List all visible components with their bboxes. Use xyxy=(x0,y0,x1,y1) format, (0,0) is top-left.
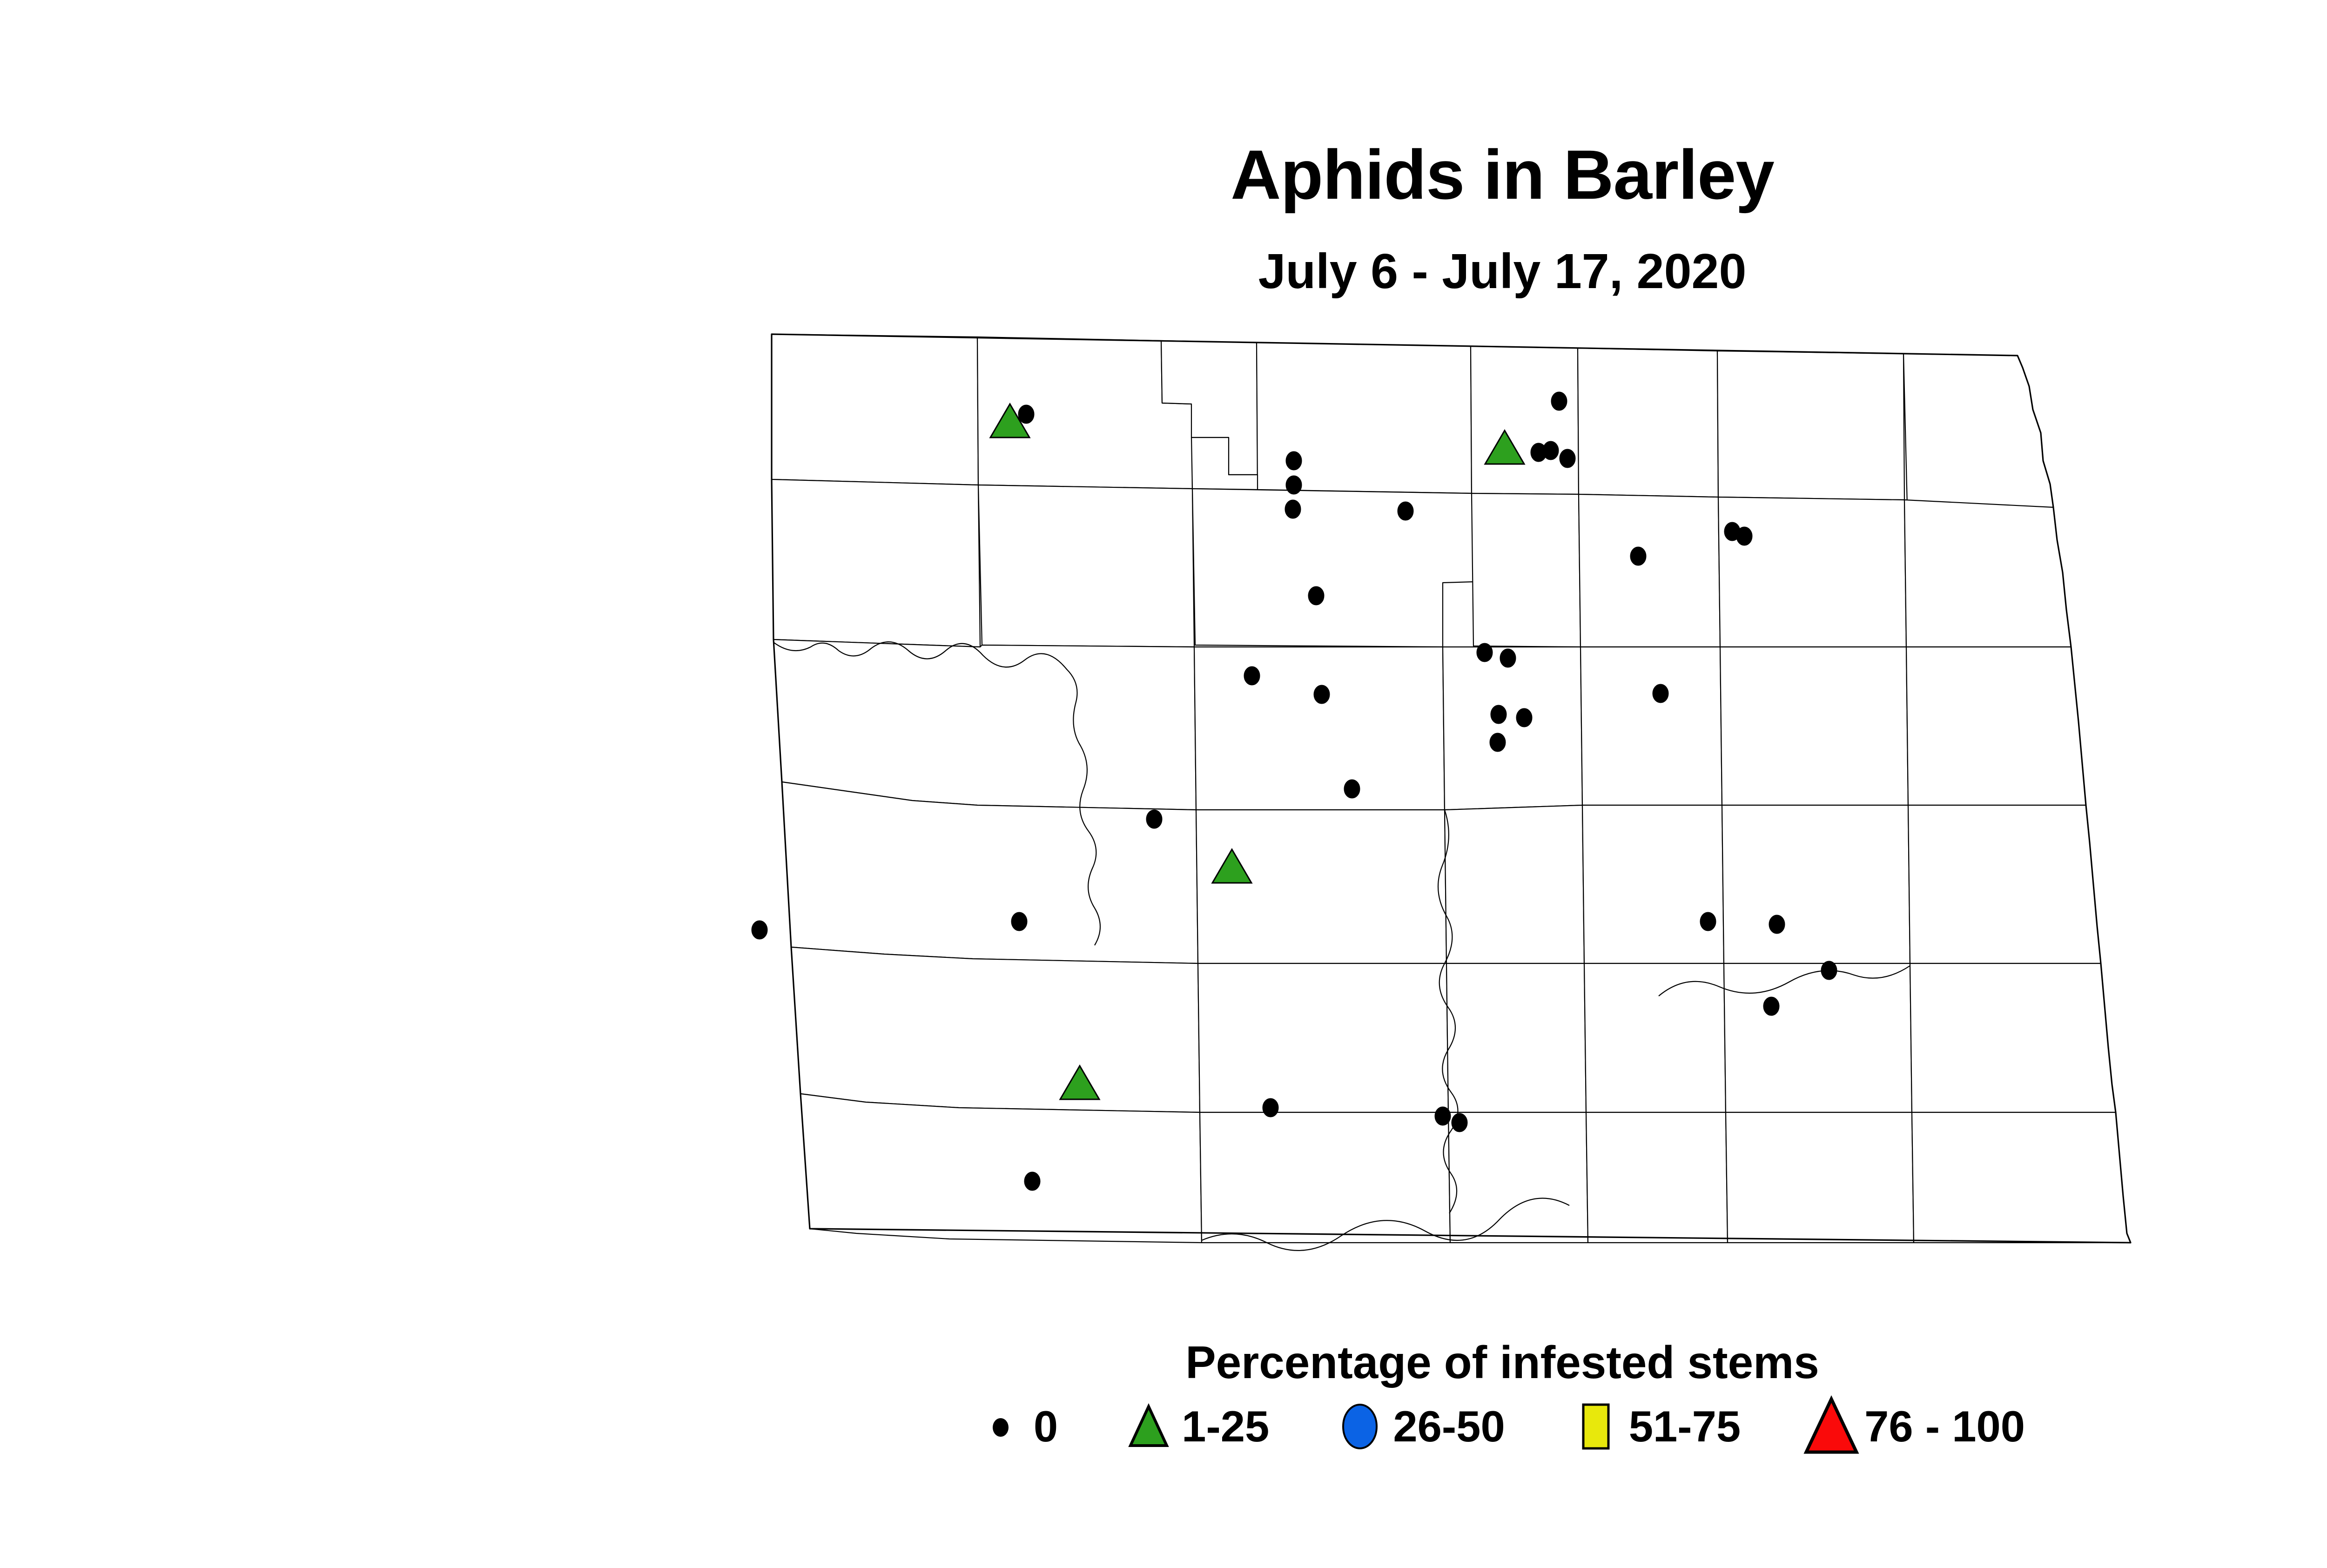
data-point-zero[interactable] xyxy=(1516,708,1532,727)
county-bottineau xyxy=(1257,343,1472,493)
county-benson xyxy=(1720,647,1908,805)
page-title: Aphids in Barley xyxy=(0,140,2327,209)
county-williams xyxy=(772,479,980,647)
county-hettinger xyxy=(1200,1112,1450,1243)
triangle-icon xyxy=(1128,1401,1170,1452)
county-sargent xyxy=(1912,1112,2131,1243)
county-morton xyxy=(1446,963,1586,1112)
data-point-zero[interactable] xyxy=(1736,527,1752,545)
data-point-zero[interactable] xyxy=(1308,586,1324,605)
circle-icon xyxy=(1339,1401,1381,1452)
legend-label-low: 1-25 xyxy=(1182,1405,1269,1448)
county-mountrail xyxy=(978,485,1194,647)
legend-label-mid: 26-50 xyxy=(1393,1405,1505,1448)
county-billings xyxy=(791,947,1200,1112)
county-ransom xyxy=(1910,963,2116,1112)
county-emmons xyxy=(1448,1112,1588,1243)
map-svg xyxy=(652,321,2308,1275)
data-point-zero[interactable] xyxy=(1700,912,1716,931)
county-ramsey xyxy=(1718,497,1906,647)
county-kidder xyxy=(1582,805,1724,963)
data-point-zero[interactable] xyxy=(1491,705,1506,724)
county-layer xyxy=(772,334,2131,1251)
data-point-zero[interactable] xyxy=(1435,1107,1451,1125)
legend-title: Percentage of infested stems xyxy=(0,1339,2327,1385)
data-point-zero[interactable] xyxy=(1286,476,1302,494)
circle-small-icon xyxy=(980,1401,1022,1452)
north-dakota-county-map[interactable] xyxy=(652,321,2308,1275)
legend-label-severe: 76 - 100 xyxy=(1864,1405,2025,1448)
legend-item-severe[interactable]: 76 - 100 xyxy=(1810,1401,2025,1452)
county-nelson xyxy=(1906,647,2086,805)
county-stark xyxy=(1198,963,1448,1112)
data-point-zero[interactable] xyxy=(1531,443,1547,462)
county-ward-main xyxy=(1192,489,1473,647)
county-mchenry xyxy=(1472,493,1580,647)
data-point-zero[interactable] xyxy=(1490,733,1506,752)
data-point-zero[interactable] xyxy=(1452,1113,1467,1132)
county-burleigh xyxy=(1445,805,1584,963)
data-point-zero[interactable] xyxy=(1018,405,1034,424)
county-mcintosh xyxy=(1586,1112,1728,1243)
county-mclean xyxy=(1194,647,1445,810)
county-barnes xyxy=(1908,805,2101,963)
county-golden-valley xyxy=(800,1094,1202,1243)
legend: 0 1-25 26-50 51-75 76 - 100 xyxy=(0,1401,2327,1452)
county-walsh xyxy=(1904,500,2071,647)
data-point-zero[interactable] xyxy=(1286,451,1302,470)
county-mercer xyxy=(1196,810,1446,963)
county-pierce xyxy=(1579,494,1720,647)
page-subtitle: July 6 - July 17, 2020 xyxy=(0,247,2327,296)
data-point-zero[interactable] xyxy=(1653,684,1668,703)
data-point-zero[interactable] xyxy=(1024,1172,1040,1191)
data-point-zero[interactable] xyxy=(1285,500,1301,518)
county-stutsman xyxy=(1722,805,1910,963)
county-dickey xyxy=(1726,1112,1914,1243)
data-point-zero[interactable] xyxy=(1821,961,1837,980)
data-point-zero[interactable] xyxy=(1398,502,1413,520)
square-icon xyxy=(1575,1401,1617,1452)
county-logan xyxy=(1584,963,1726,1112)
triangle-icon xyxy=(1810,1401,1852,1452)
county-cavalier xyxy=(1717,351,1904,500)
county-lamoure xyxy=(1724,963,1912,1112)
legend-label-high: 51-75 xyxy=(1629,1405,1741,1448)
county-pembina xyxy=(1903,354,2053,507)
legend-item-zero[interactable]: 0 xyxy=(980,1401,1058,1452)
data-point-zero[interactable] xyxy=(1560,449,1575,468)
legend-item-high[interactable]: 51-75 xyxy=(1575,1401,1741,1452)
data-point-zero[interactable] xyxy=(1500,649,1516,667)
county-dunn xyxy=(782,782,1198,963)
data-point-zero[interactable] xyxy=(1630,547,1646,565)
data-point-zero[interactable] xyxy=(1477,643,1493,662)
legend-item-low[interactable]: 1-25 xyxy=(1128,1401,1269,1452)
legend-item-mid[interactable]: 26-50 xyxy=(1339,1401,1505,1452)
data-point-zero[interactable] xyxy=(1314,685,1330,704)
data-point-zero[interactable] xyxy=(1146,810,1162,828)
county-sheridan xyxy=(1443,647,1582,810)
data-point-zero[interactable] xyxy=(1769,915,1785,934)
county-mckenzie xyxy=(773,639,1196,810)
data-point-zero[interactable] xyxy=(1244,666,1260,685)
data-point-zero[interactable] xyxy=(1011,912,1027,931)
data-point-zero[interactable] xyxy=(1551,392,1567,411)
county-wells xyxy=(1580,647,1722,805)
legend-label-zero: 0 xyxy=(1034,1405,1058,1448)
county-rolette xyxy=(1471,346,1579,494)
county-towner xyxy=(1578,348,1718,497)
data-point-zero[interactable] xyxy=(752,921,767,939)
data-point-zero[interactable] xyxy=(1344,780,1360,798)
data-point-zero[interactable] xyxy=(1763,997,1779,1016)
county-divide xyxy=(772,334,978,485)
data-point-zero[interactable] xyxy=(1263,1098,1278,1117)
aphid-survey-map-page: Aphids in Barley July 6 - July 17, 2020 xyxy=(0,0,2327,1568)
